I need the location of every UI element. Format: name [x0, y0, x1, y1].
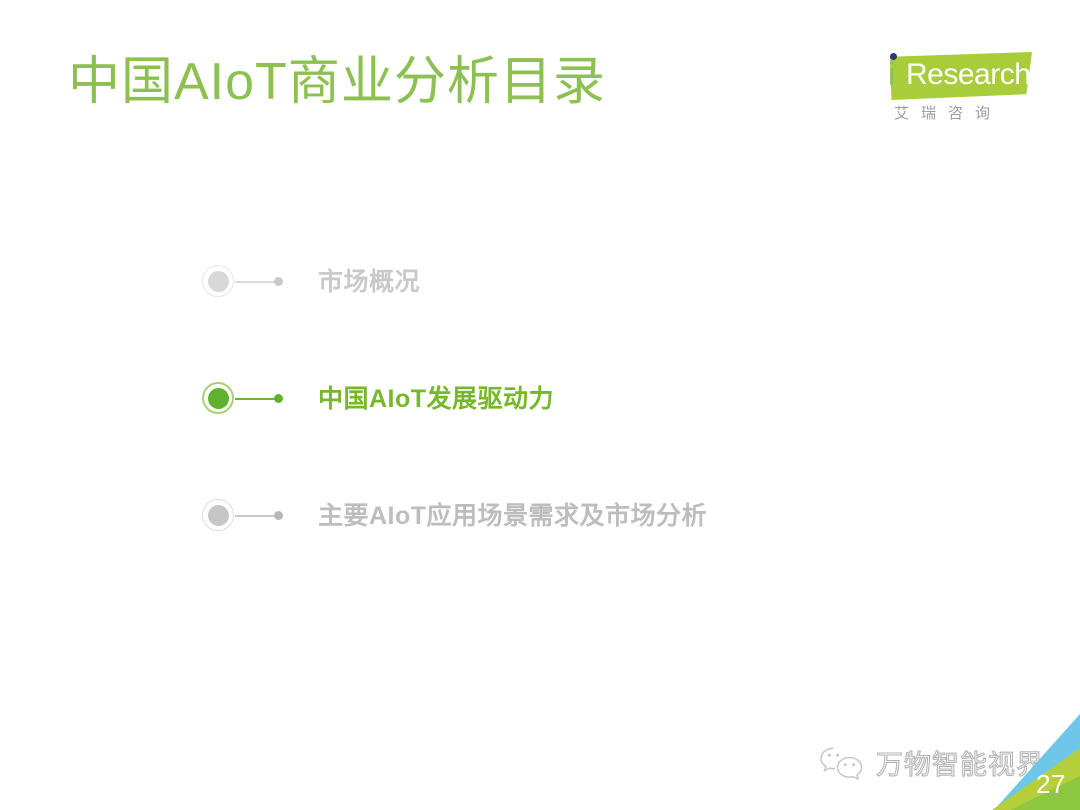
marker-line-icon — [235, 398, 277, 400]
marker-tip-icon — [274, 511, 283, 520]
toc-marker — [202, 382, 288, 416]
marker-dot-icon — [208, 271, 229, 292]
marker-line-icon — [235, 281, 277, 283]
toc-marker — [202, 499, 288, 533]
toc-list: 市场概况 中国AIoT发展驱动力 主要AIoT应用场景需求及市场分析 — [202, 252, 922, 546]
iresearch-logo: i Research 艾瑞咨询 — [872, 46, 1032, 128]
wechat-icon — [818, 745, 870, 785]
page-number: 27 — [1036, 770, 1066, 798]
toc-item-market-overview[interactable]: 市场概况 — [202, 252, 922, 312]
toc-item-label: 主要AIoT应用场景需求及市场分析 — [318, 499, 707, 533]
page-title: 中国AIoT商业分析目录 — [68, 50, 606, 114]
logo-i-dot-icon — [890, 53, 897, 60]
toc-item-aiot-drivers[interactable]: 中国AIoT发展驱动力 — [202, 369, 922, 429]
toc-marker — [202, 265, 288, 299]
marker-tip-icon — [274, 277, 283, 286]
logo-i-letter: i — [888, 56, 895, 92]
logo-wordmark: Research — [906, 57, 1030, 93]
marker-tip-icon — [274, 394, 283, 403]
toc-item-application-scenarios[interactable]: 主要AIoT应用场景需求及市场分析 — [202, 486, 922, 546]
marker-dot-icon — [208, 505, 229, 526]
toc-item-label: 中国AIoT发展驱动力 — [318, 382, 554, 416]
logo-subtitle: 艾瑞咨询 — [894, 104, 1002, 124]
slide-root: 中国AIoT商业分析目录 i Research 艾瑞咨询 市场概况 — [0, 0, 1080, 810]
marker-line-icon — [235, 515, 277, 517]
toc-item-label: 市场概况 — [318, 265, 420, 299]
marker-dot-icon — [208, 388, 229, 409]
